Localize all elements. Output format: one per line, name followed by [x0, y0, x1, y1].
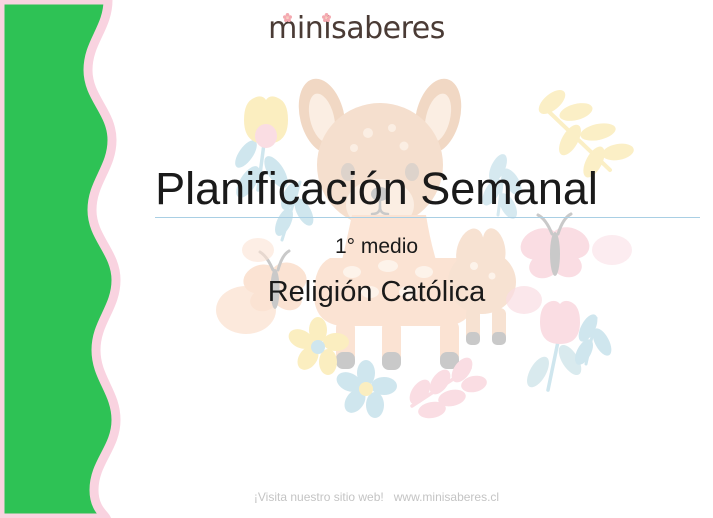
flower-dot-icon — [322, 9, 331, 18]
flower-dot-icon — [283, 9, 292, 18]
brand-logo-text: minisaberes — [268, 11, 445, 46]
footer: ¡Visita nuestro sitio web!www.minisabere… — [0, 490, 713, 504]
subject-label: Religión Católica — [0, 274, 713, 310]
footer-cta: ¡Visita nuestro sitio web! — [254, 490, 384, 504]
footer-website[interactable]: www.minisaberes.cl — [394, 490, 499, 504]
tulip-icon — [523, 301, 586, 391]
grade-label: 1° medio — [0, 233, 713, 260]
title-divider — [155, 217, 700, 218]
brand-logo: minisaberes — [0, 14, 713, 44]
slide-canvas: minisaberes — [0, 0, 713, 518]
page-title: Planificación Semanal — [0, 161, 713, 217]
